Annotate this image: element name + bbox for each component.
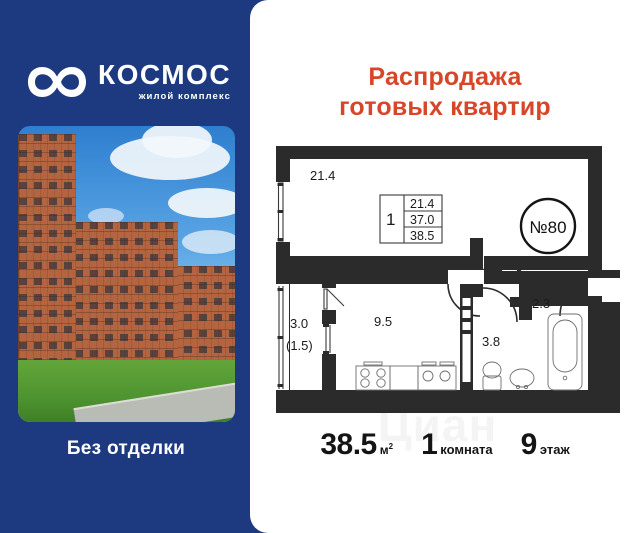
table-row-2: 38.5	[410, 229, 434, 243]
fact-rooms: 1 комната	[421, 428, 493, 462]
floor-plan[interactable]: .wall { fill:#2b2b2b; } .inner { fill:#f…	[270, 138, 620, 413]
fact-rooms-value: 1	[421, 428, 437, 462]
window-balcony	[276, 284, 289, 390]
room-area-living: 21.4	[310, 168, 335, 183]
fact-area-unit: м2	[380, 442, 393, 457]
listing-card-root: КОСМОС жилой комплекс	[0, 0, 640, 533]
content-card: Распродажа готовых квартир Циан .wall { …	[250, 0, 640, 533]
page-title: Распродажа готовых квартир	[250, 62, 640, 122]
fact-floor-value: 9	[521, 428, 537, 462]
building-photo	[18, 126, 235, 422]
fact-rooms-unit: комната	[440, 442, 492, 457]
svg-text:№80: №80	[529, 218, 566, 237]
fact-floor: 9 этаж	[521, 428, 570, 462]
table-row-1: 37.0	[410, 213, 434, 227]
fact-floor-unit: этаж	[540, 442, 570, 457]
summary-facts: 38.5 м2 1 комната 9 этаж	[250, 428, 640, 462]
table-row-0: 21.4	[410, 197, 434, 211]
brand-logo: КОСМОС жилой комплекс	[26, 60, 231, 102]
room-area-balcony: 3.0	[290, 316, 308, 331]
room-area-balcony-reduced: (1.5)	[286, 338, 313, 353]
room-area-bathroom: 3.8	[482, 334, 500, 349]
room-area-hallway: 2.3	[532, 296, 550, 311]
room-area-kitchen: 9.5	[374, 314, 392, 329]
fact-area: 38.5 м2	[320, 428, 393, 462]
ventilation-shaft	[460, 290, 473, 390]
brand-panel: КОСМОС жилой комплекс	[0, 0, 252, 533]
infinity-logo-icon	[26, 62, 88, 102]
window-living-room	[276, 182, 290, 242]
brand-name: КОСМОС	[98, 60, 231, 90]
finish-caption: Без отделки	[0, 438, 252, 460]
fact-area-value: 38.5	[320, 428, 376, 462]
headline-line-2: готовых квартир	[250, 92, 640, 122]
brand-tagline: жилой комплекс	[98, 91, 231, 102]
table-rooms: 1	[386, 210, 395, 229]
apartment-number-badge: №80	[521, 199, 575, 253]
headline-line-1: Распродажа	[250, 62, 640, 92]
